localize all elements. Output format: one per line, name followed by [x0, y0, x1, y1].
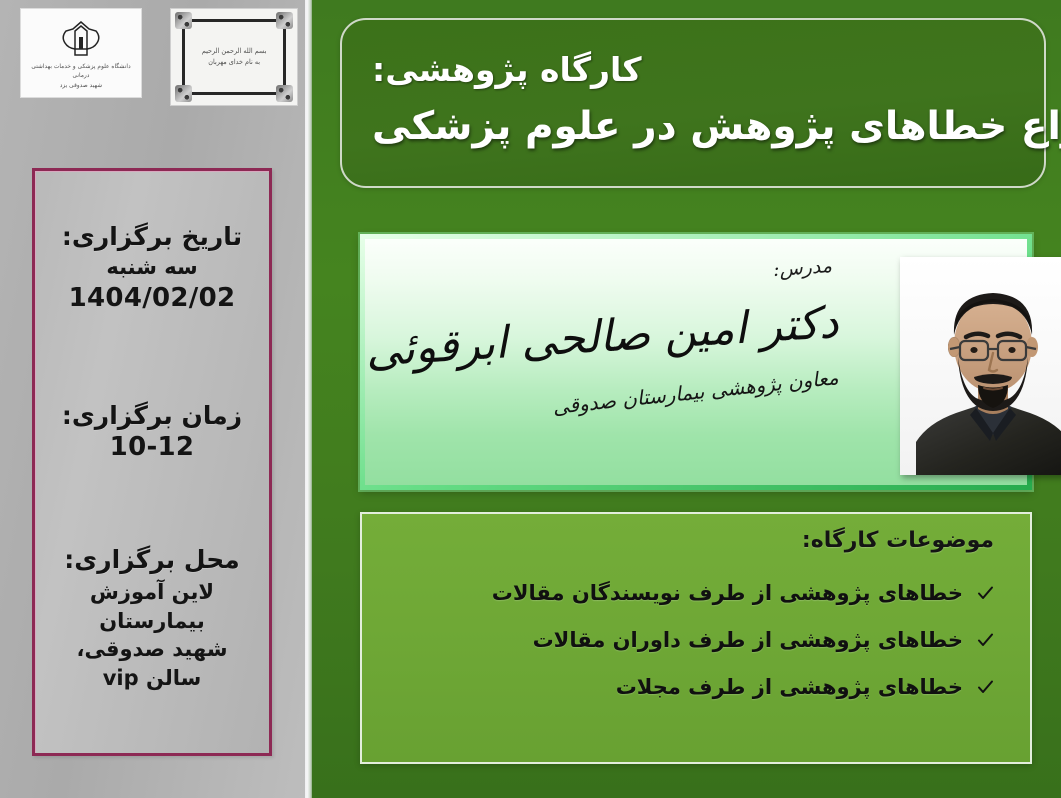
event-place-value: لاین آموزش بیمارستان شهید صدوقی، سالن vi… [51, 578, 253, 692]
topics-heading: موضوعات کارگاه: [390, 528, 994, 553]
plaque-corner-ornament [175, 85, 192, 102]
topic-label: خطاهای پژوهشی از طرف نویسندگان مقالات [492, 581, 963, 606]
event-date-group: تاریخ برگزاری: سه شنبه 1404/02/02 [51, 221, 253, 314]
event-place-line-1: لاین آموزش بیمارستان [51, 578, 253, 635]
topic-label: خطاهای پژوهشی از طرف مجلات [616, 675, 963, 700]
topics-list: خطاهای پژوهشی از طرف نویسندگان مقالات خط… [390, 581, 994, 701]
university-emblem-icon [58, 19, 104, 59]
workshop-poster: بسم الله الرحمن الرحیم به نام خدای مهربا… [0, 0, 1061, 798]
event-time-group: زمان برگزاری: 10-12 [51, 400, 253, 464]
event-details-box: تاریخ برگزاری: سه شنبه 1404/02/02 زمان ب… [32, 168, 272, 756]
speaker-box: مدرس: دکتر امین صالحی ابرقوئی معاون پژوه… [360, 234, 1032, 490]
plaque-corner-ornament [276, 12, 293, 29]
topic-label: خطاهای پژوهشی از طرف داوران مقالات [533, 628, 963, 653]
speaker-position: معاون پژوهشی بیمارستان صدوقی [366, 364, 839, 439]
bismillah-plaque-logo: بسم الله الرحمن الرحیم به نام خدای مهربا… [170, 8, 298, 106]
event-place-hall-prefix: سالن [139, 666, 202, 690]
speaker-text-block: مدرس: دکتر امین صالحی ابرقوئی معاون پژوه… [365, 239, 864, 485]
speaker-photo [900, 257, 1061, 475]
plaque-line-2: به نام خدای مهربان [202, 57, 267, 68]
list-item: خطاهای پژوهشی از طرف مجلات [390, 675, 994, 700]
event-time-label: زمان برگزاری: [51, 400, 253, 431]
check-icon [977, 632, 994, 649]
poster-kicker: کارگاه پژوهشی: [372, 50, 642, 90]
speaker-role-label: مدرس: [773, 255, 833, 281]
plaque-line-1: بسم الله الرحمن الرحیم [202, 46, 267, 57]
portrait-illustration [900, 257, 1061, 475]
panel-divider [305, 0, 312, 798]
university-name-script: دانشگاه علوم پزشکی و خدمات بهداشتی درمان… [24, 62, 138, 90]
event-date-weekday: سه شنبه [51, 254, 253, 281]
list-item: خطاهای پژوهشی از طرف نویسندگان مقالات [390, 581, 994, 606]
event-date-value: 1404/02/02 [51, 282, 253, 315]
info-column: بسم الله الرحمن الرحیم به نام خدای مهربا… [0, 0, 305, 798]
plaque-corner-ornament [175, 12, 192, 29]
university-line-2: شهید صدوقی یزد [24, 81, 138, 90]
green-panel: کارگاه پژوهشی: انواع خطاهای پژوهش در علو… [312, 0, 1061, 798]
topics-box: موضوعات کارگاه: خطاهای پژوهشی از طرف نوی… [360, 512, 1032, 764]
plaque-script: بسم الله الرحمن الرحیم به نام خدای مهربا… [189, 46, 279, 68]
speaker-name: دکتر امین صالحی ابرقوئی [364, 295, 840, 379]
university-line-1: دانشگاه علوم پزشکی و خدمات بهداشتی درمان… [24, 62, 138, 81]
speaker-role-row: مدرس: [365, 257, 838, 279]
event-place-line-2: شهید صدوقی، [51, 635, 253, 664]
event-time-value: 10-12 [51, 431, 253, 464]
check-icon [977, 679, 994, 696]
university-logo: دانشگاه علوم پزشکی و خدمات بهداشتی درمان… [20, 8, 142, 98]
list-item: خطاهای پژوهشی از طرف داوران مقالات [390, 628, 994, 653]
check-icon [977, 585, 994, 602]
poster-title-box: کارگاه پژوهشی: انواع خطاهای پژوهش در علو… [340, 18, 1046, 188]
event-place-line-3: سالن vip [51, 664, 253, 693]
event-place-label: محل برگزاری: [51, 544, 253, 575]
plaque-corner-ornament [276, 85, 293, 102]
logo-row: بسم الله الرحمن الرحیم به نام خدای مهربا… [8, 8, 298, 108]
event-place-group: محل برگزاری: لاین آموزش بیمارستان شهید ص… [51, 544, 253, 692]
event-place-hall-name: vip [103, 664, 139, 693]
page-title: انواع خطاهای پژوهش در علوم پزشکی [372, 104, 1061, 150]
event-date-label: تاریخ برگزاری: [51, 221, 253, 252]
